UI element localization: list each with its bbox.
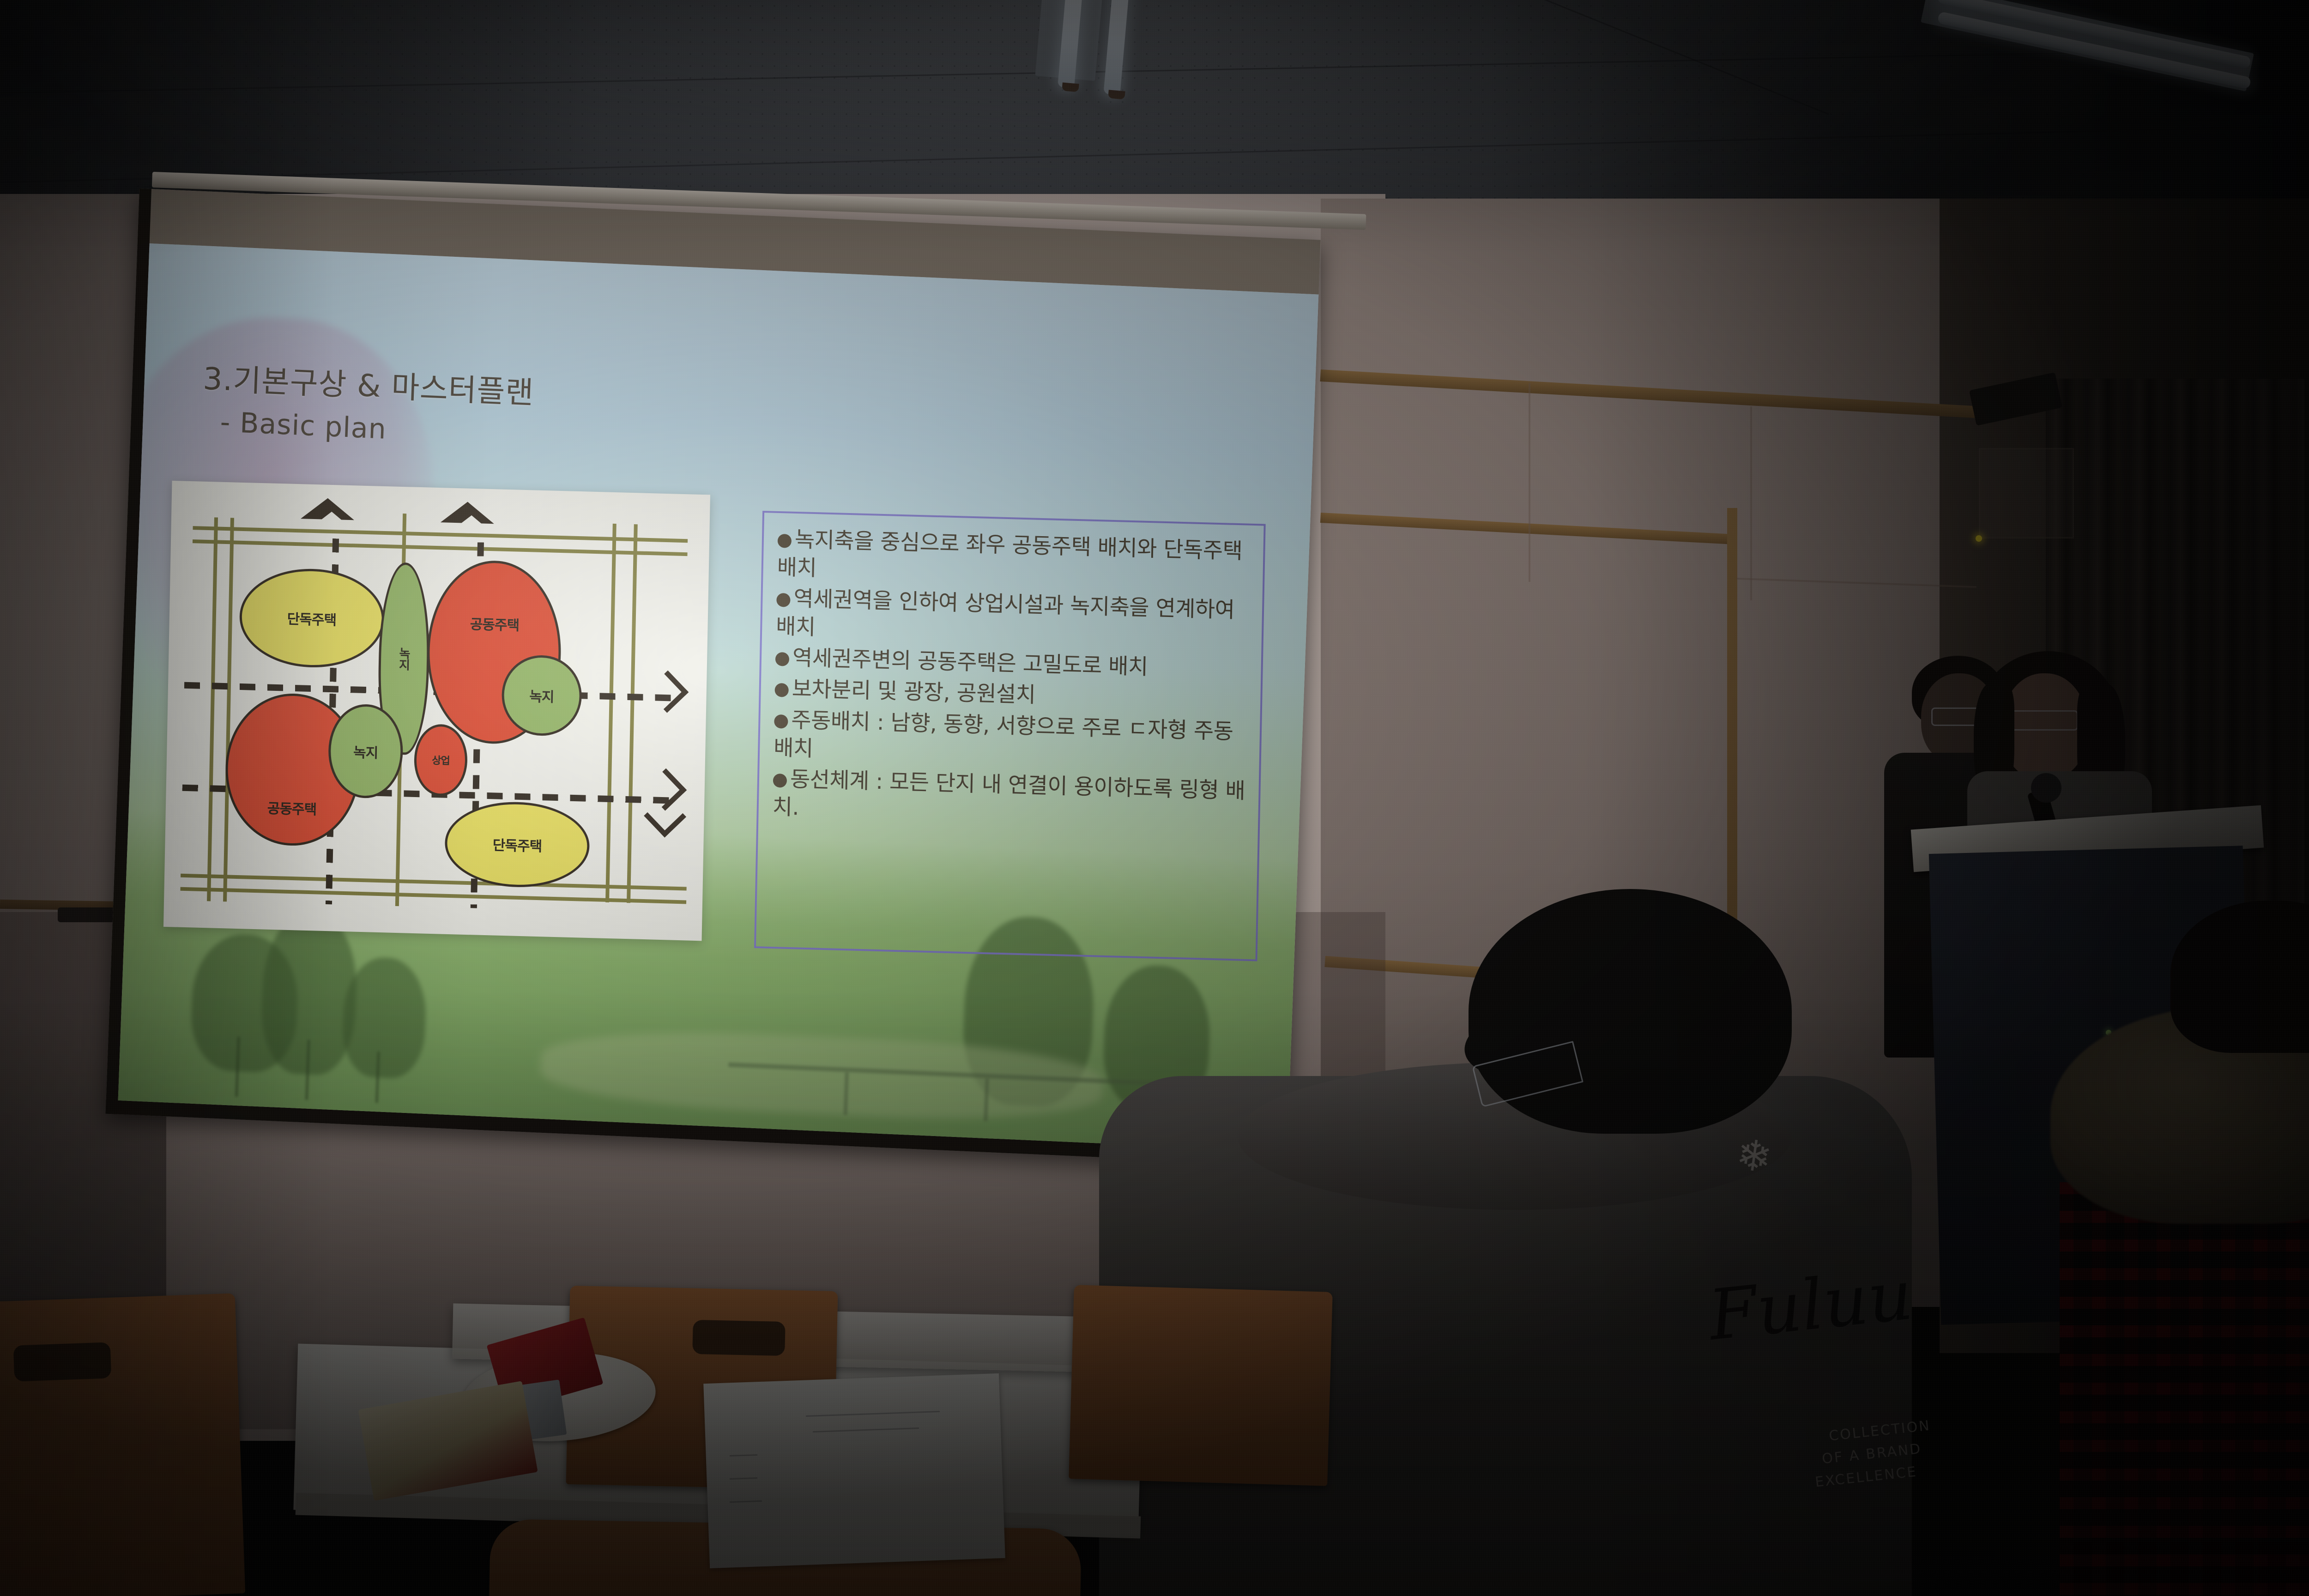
bullet-marker-icon [773, 773, 787, 787]
diagram-zone-label: 단독주택 [287, 608, 336, 629]
bullet-item: 역세권역을 인하여 상업시설과 녹지축을 연계하여 배치 [775, 584, 1251, 653]
diagram-road [180, 887, 686, 904]
diagram-zone-label: 녹지 [353, 741, 378, 762]
diagram-zone-commercial: 상업 [414, 724, 468, 797]
wall-panel-seam [1750, 406, 1752, 600]
bullet-text: 역세권주변의 공동주택은 고밀도로 배치 [792, 645, 1148, 680]
chair-handle-cutout [13, 1342, 112, 1381]
bullet-marker-icon [775, 652, 789, 666]
eyeglasses [2010, 710, 2078, 731]
presentation-slide: 3.기본구상 & 마스터플랜 - Basic plan [118, 243, 1319, 1151]
hoodie-snowflake-icon: ❄ [1733, 1129, 1775, 1183]
wall-panel-seam [1529, 383, 1530, 582]
diagram-zone-detached-housing: 단독주택 [444, 800, 590, 889]
diagram-zone-label: 상업 [432, 752, 450, 768]
lecture-hall-photo: 3.기본구상 & 마스터플랜 - Basic plan [0, 0, 2309, 1596]
bullet-text: 동선체계 : 모든 단지 내 연결이 용이하도록 링형 배치. [772, 766, 1245, 820]
wall-control-panel [1979, 448, 2074, 538]
audience-member-plaid-coat [2060, 1182, 2309, 1596]
chair-handle-cutout [692, 1320, 786, 1356]
bullet-marker-icon [774, 683, 789, 697]
diagram-road [605, 524, 617, 903]
bullet-item: 동선체계 : 모든 단지 내 연결이 용이하도록 링형 배치. [772, 764, 1248, 833]
handout-documents [703, 1373, 1005, 1568]
diagram-road [223, 518, 234, 902]
bullet-item: 녹지축을 중심으로 좌우 공동주택 배치와 단독주택 배치 [777, 525, 1252, 594]
diagram-zone-label: 녹지 [529, 685, 554, 706]
bullet-item: 주동배치 : 남향, 동향, 서향으로 주로 ㄷ자형 주동 배치 [773, 705, 1249, 774]
light-fixture-end-cap [1108, 90, 1125, 99]
diagram-gate-icon-inner [313, 511, 350, 527]
bullet-marker-icon [776, 593, 791, 607]
bullet-text: 녹지축을 중심으로 좌우 공동주택 배치와 단독주택 배치 [777, 527, 1243, 581]
diagram-zone-detached-housing: 단독주택 [238, 568, 385, 670]
diagram-gate-icon-inner [453, 515, 490, 531]
site-concept-diagram: 단독주택 녹지 공동주택 녹지 공동주택 녹지 상업 [163, 481, 710, 941]
diagram-zone-label: 공동주택 [267, 797, 316, 819]
bullet-text: 주동배치 : 남향, 동향, 서향으로 주로 ㄷ자형 주동 배치 [773, 707, 1233, 761]
bullet-text: 보차분리 및 광장, 공원설치 [792, 676, 1036, 708]
bullet-text: 역세권역을 인하여 상업시설과 녹지축을 연계하여 배치 [776, 586, 1235, 640]
bullet-marker-icon [774, 714, 788, 728]
slide-bullet-panel: 녹지축을 중심으로 좌우 공동주택 배치와 단독주택 배치 역세권역을 인하여 … [754, 511, 1265, 961]
diagram-road [207, 518, 218, 901]
light-fixture-end-cap [1062, 82, 1079, 92]
chair[interactable] [1069, 1285, 1333, 1486]
status-led-indicator [1976, 535, 1982, 542]
bullet-marker-icon [777, 534, 792, 548]
microphone-head [2031, 773, 2061, 803]
chair[interactable] [0, 1293, 245, 1596]
diagram-flow-arrow [646, 671, 689, 713]
diagram-road [627, 524, 638, 903]
diagram-road [181, 874, 686, 891]
diagram-zone-label: 녹지 [395, 647, 412, 671]
diagram-zone-label: 공동주택 [470, 613, 519, 635]
diagram-zone-label: 단독주택 [492, 834, 542, 856]
projection-screen[interactable]: 3.기본구상 & 마스터플랜 - Basic plan [106, 188, 1321, 1165]
